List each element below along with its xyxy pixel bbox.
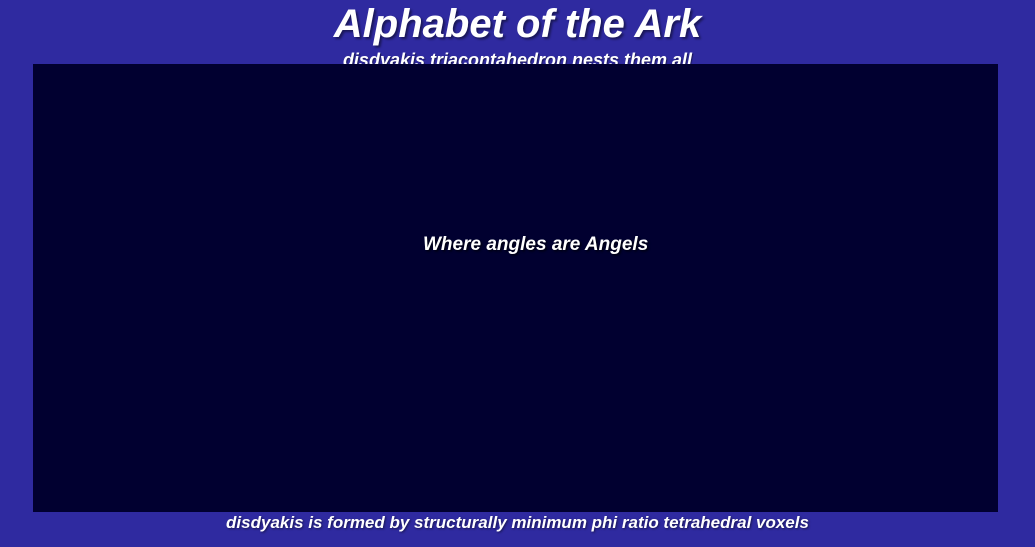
- footer-text: disdyakis is formed by structurally mini…: [0, 513, 1035, 533]
- page-title: Alphabet of the Ark: [0, 2, 1035, 47]
- polyhedra-canvas: [33, 64, 998, 512]
- figure-panel: Where angles are Angels: [33, 64, 998, 512]
- tagline: Where angles are Angels: [423, 234, 648, 256]
- poster-root: Alphabet of the Ark disdyakis triacontah…: [0, 0, 1035, 547]
- title-bar: Alphabet of the Ark disdyakis triacontah…: [0, 0, 1035, 68]
